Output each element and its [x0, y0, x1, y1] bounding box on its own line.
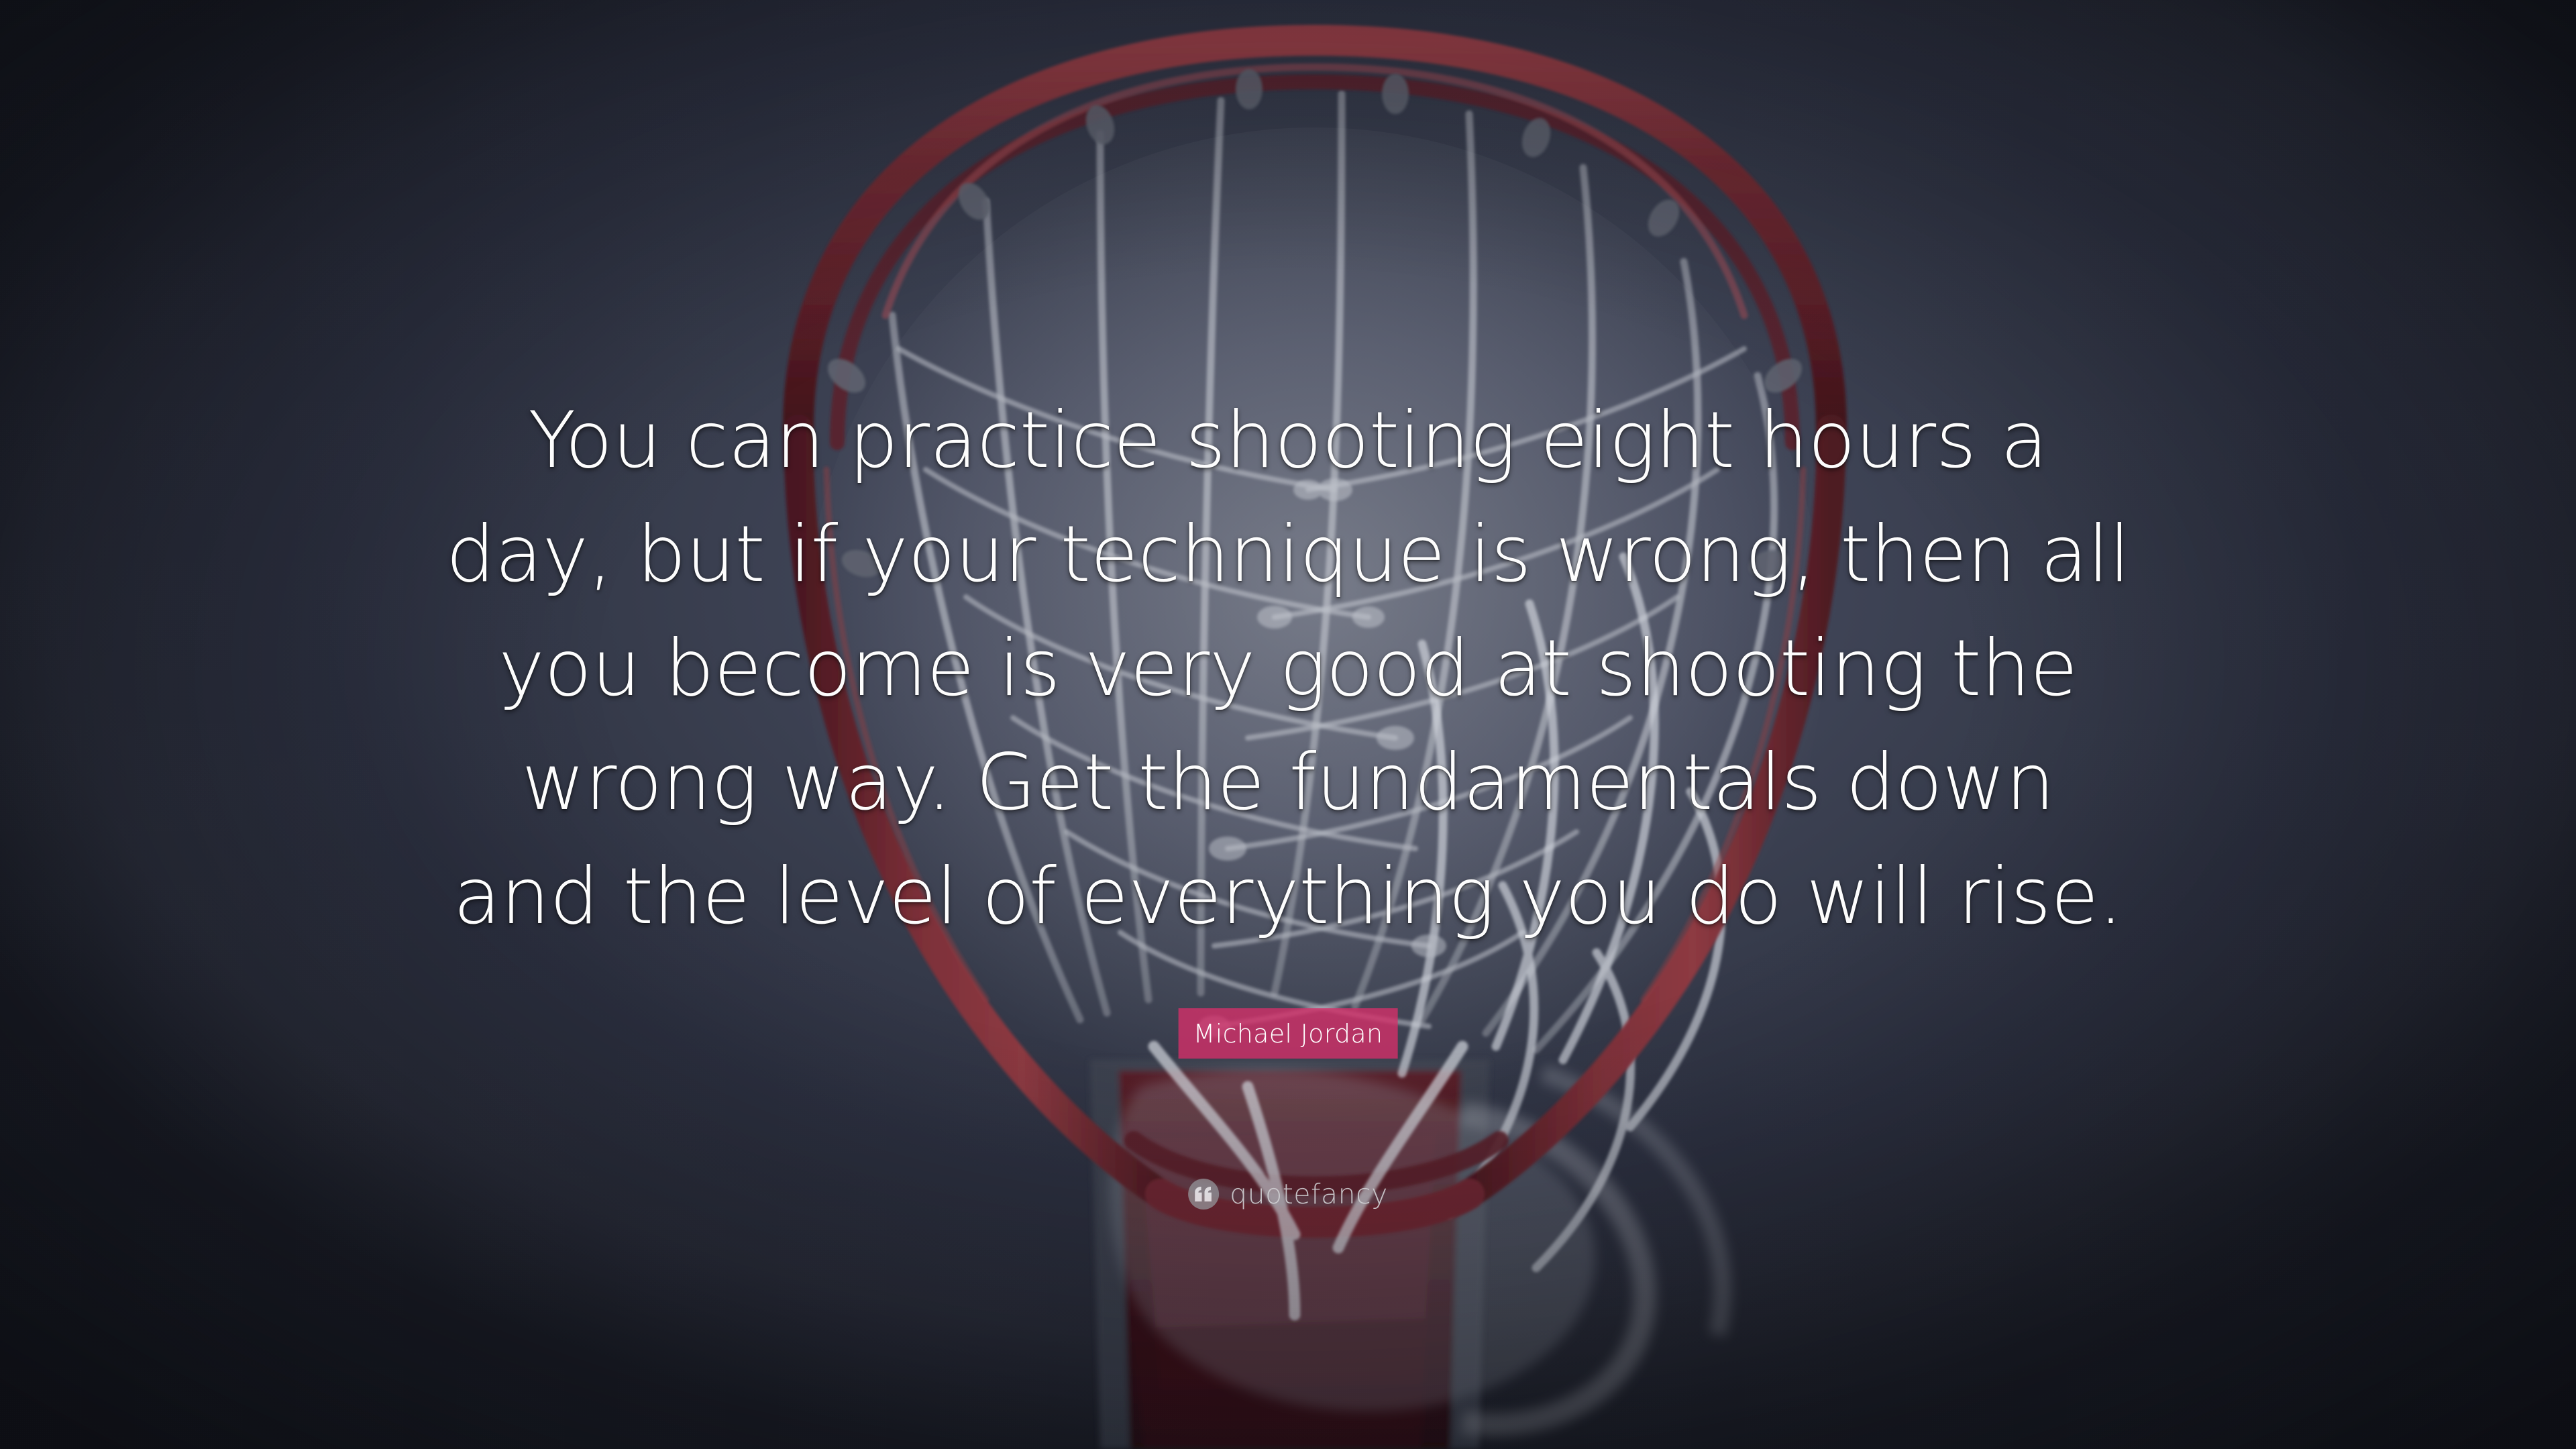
quote-line: and the level of everything you do will … [409, 840, 2167, 954]
quote-mark-icon [1188, 1179, 1219, 1210]
author-badge[interactable]: Michael Jordan [1179, 1008, 1398, 1059]
quote-line: wrong way. Get the fundamentals down [409, 726, 2167, 840]
author-name: Michael Jordan [1193, 1019, 1383, 1049]
quote-text-block: You can practice shooting eight hours a … [409, 384, 2167, 954]
quote-line: you become is very good at shooting the [409, 612, 2167, 726]
quotefancy-brand-text: quotefancy [1230, 1181, 1388, 1208]
quote-line: You can practice shooting eight hours a [409, 384, 2167, 498]
quote-line: day, but if your technique is wrong, the… [409, 498, 2167, 612]
quote-image-canvas: You can practice shooting eight hours a … [0, 0, 2576, 1449]
quotefancy-watermark[interactable]: quotefancy [1188, 1179, 1388, 1210]
